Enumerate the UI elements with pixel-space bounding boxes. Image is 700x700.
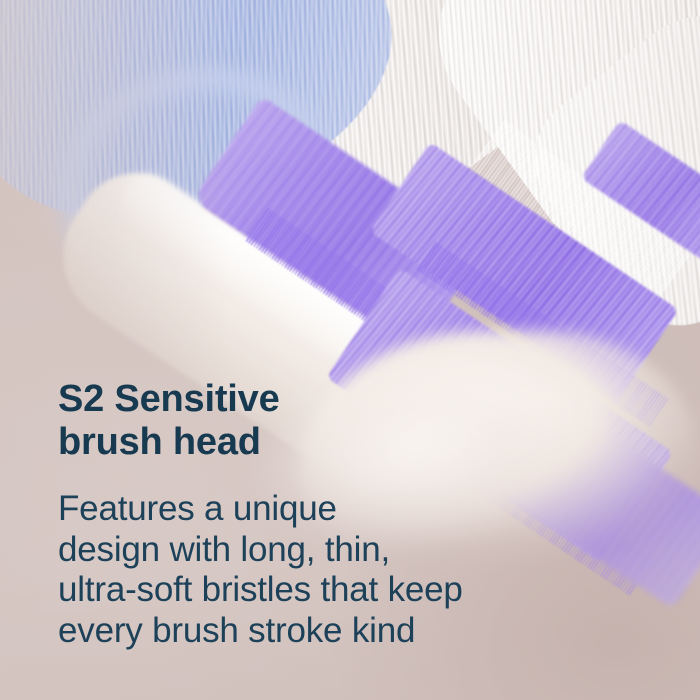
body-copy: Features a unique design with long, thin… <box>58 489 538 651</box>
product-feature-image: S2 Sensitive brush head Features a uniqu… <box>0 0 700 700</box>
page-title: S2 Sensitive brush head <box>58 378 538 463</box>
text-block: S2 Sensitive brush head Features a uniqu… <box>58 378 538 651</box>
